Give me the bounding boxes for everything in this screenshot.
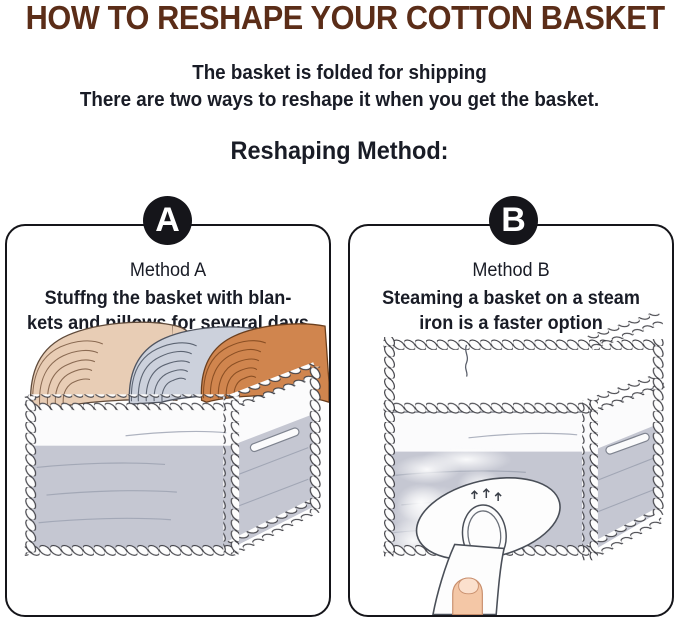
method-b-description-line-2: iron is a faster option [366,311,657,336]
thumbnail [459,578,479,594]
rope-trim-top-right [587,372,665,413]
subtitle-line-2: There are two ways to reshape it when yo… [20,87,658,114]
rope-trim-right-edge [305,367,321,513]
method-a-panel: Method A Stuffng the basket with blan- k… [5,224,331,617]
header-block: HOW TO RESHAPE YOUR COTTON BASKET The ba… [0,0,679,166]
rope-trim-top-front [384,398,594,414]
steamer-handle [433,544,504,614]
handheld-steamer [393,465,568,615]
section-heading: Reshaping Method: [20,136,658,166]
method-b-text: Method B Steaming a basket on a steam ir… [358,258,664,336]
steamer-head [408,465,568,573]
steam-arrow-marks [471,489,501,501]
rope-trim-bottom-right [586,508,663,559]
rope-trim-top-front [25,394,235,410]
steamer-button-inner [466,509,503,560]
basket-handle-slot [249,427,300,453]
method-a-badge: A [143,196,192,245]
rope-trim-right-edge [650,339,666,515]
rope-trim-left-edge [21,396,37,554]
method-a-label: Method A [23,258,314,284]
page-title: HOW TO RESHAPE YOUR COTTON BASKET [24,0,655,36]
method-b-description-line-1: Steaming a basket on a steam [366,286,657,311]
subtitle-line-1: The basket is folded for shipping [20,60,658,87]
thumb [453,578,483,615]
basket-inner-cord [466,345,468,377]
method-a-description-line-2: kets and pillows for several days [23,311,314,336]
method-a-description-line-1: Stuffng the basket with blan- [23,286,314,311]
steamer-button-outer [460,503,509,566]
rope-trim-corner-edge [223,396,239,554]
rope-trim-bottom-front [25,541,235,557]
method-a-text: Method A Stuffng the basket with blan- k… [15,258,321,336]
basket-handle-slot [605,432,650,455]
method-b-badge: B [489,196,538,245]
rope-trim-corner-edge [582,400,598,560]
blanket-roll-gray [129,327,284,404]
steam-wisps [384,446,512,563]
rope-trim-bottom-front [384,544,594,560]
rope-trim-top-right [228,362,318,409]
subtitle-block: The basket is folded for shipping There … [0,60,679,114]
rope-trim-left-edge [380,337,396,556]
method-b-label: Method B [366,258,657,284]
rope-trim-bottom-right [228,499,318,555]
method-b-panel: Method B Steaming a basket on a steam ir… [348,224,674,617]
